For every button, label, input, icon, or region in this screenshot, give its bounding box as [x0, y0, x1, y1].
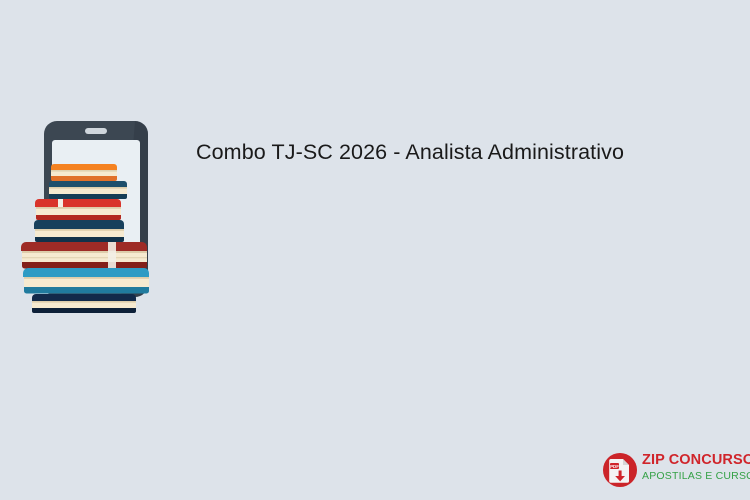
pdf-download-icon: PDF — [602, 452, 638, 488]
page-title: Combo TJ-SC 2026 - Analista Administrati… — [196, 139, 716, 165]
book-midnight — [32, 294, 136, 313]
book-teal-mid — [23, 268, 149, 294]
brand-logo[interactable]: PDF ZIP CONCURSOS APOSTILAS E CURSOS — [602, 450, 742, 490]
brand-wordmark: ZIP CONCURSOS APOSTILAS E CURSOS — [642, 452, 742, 483]
book-darknavy — [34, 220, 124, 242]
book-navy-upper — [49, 181, 127, 199]
brand-primary-text: ZIP CONCURSOS — [642, 452, 742, 469]
brand-secondary-text: APOSTILAS E CURSOS — [642, 469, 742, 483]
book-darkred — [21, 242, 147, 269]
book-orange-top — [51, 164, 117, 181]
promo-banner: Combo TJ-SC 2026 - Analista Administrati… — [0, 0, 750, 500]
svg-text:PDF: PDF — [610, 464, 619, 469]
book-red-upper — [35, 199, 121, 220]
books-and-phone-illustration — [8, 118, 178, 313]
